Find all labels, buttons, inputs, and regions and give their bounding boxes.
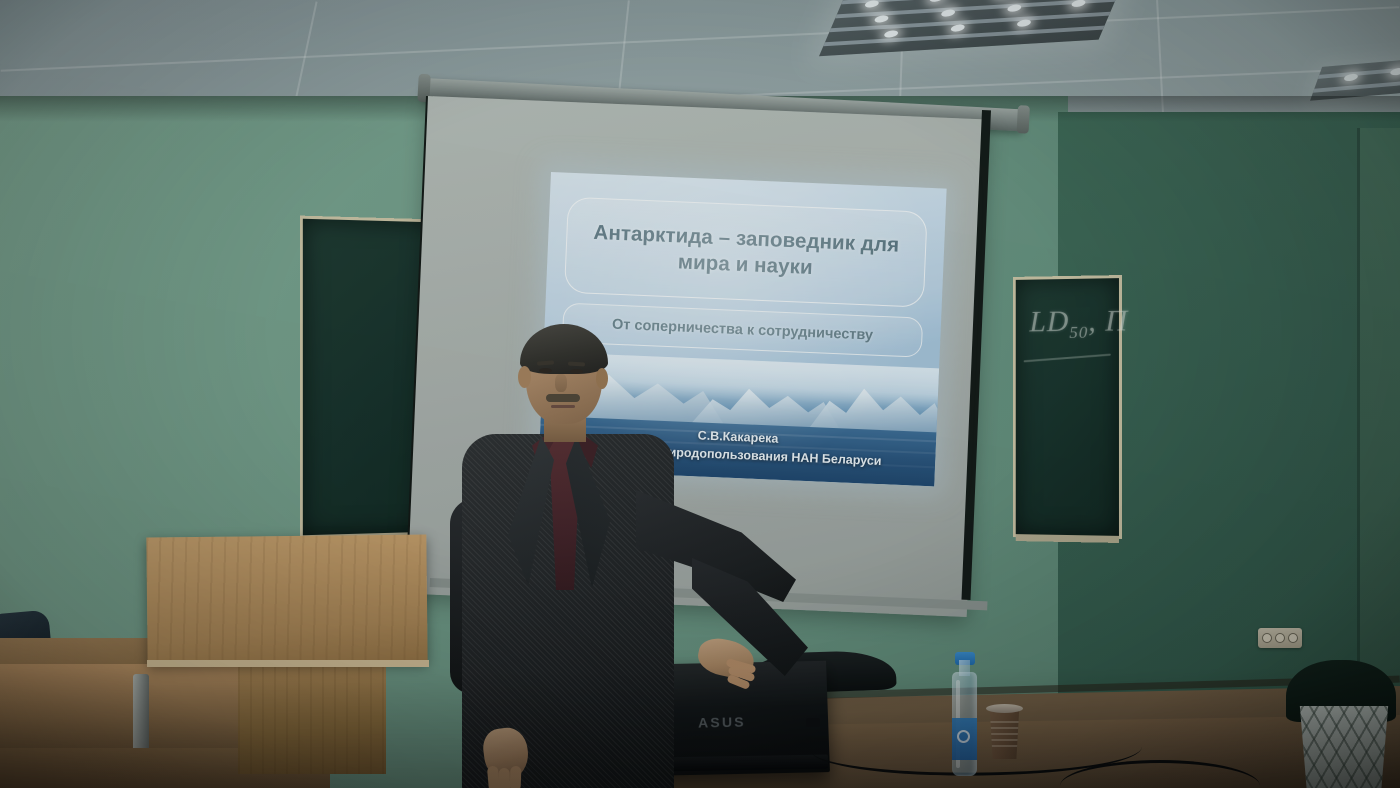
- presenter-nose: [555, 374, 567, 392]
- presenter-ear-left: [518, 366, 531, 388]
- presenter-eye-left: [539, 368, 552, 373]
- slide-title-box: Антарктида – заповедник для мира и науки: [564, 197, 928, 308]
- slide-title: Антарктида – заповедник для мира и науки: [566, 219, 926, 286]
- presenter-ear-right: [596, 368, 608, 389]
- desk-leg: [133, 674, 149, 754]
- desk-front: [0, 664, 245, 752]
- presenter-eyebrow-right: [568, 362, 585, 367]
- paper-cup: [988, 707, 1021, 759]
- trash-bin: [1296, 706, 1392, 788]
- presenter: [440, 322, 790, 788]
- paper-cup-rim: [986, 704, 1023, 713]
- water-bottle-label: [952, 718, 977, 760]
- chalk-ld-suffix: , П: [1088, 304, 1128, 338]
- chalkboard-right: LD50, П: [1013, 275, 1122, 539]
- lectern: [146, 535, 427, 666]
- chalk-ld-label: LD: [1029, 305, 1069, 338]
- lecture-hall-photo: LD50, П Антарктида – заповедник для мира…: [0, 0, 1400, 788]
- presenter-hair: [520, 324, 608, 374]
- chalk-ld-subscript: 50: [1069, 323, 1088, 342]
- power-outlet[interactable]: [1258, 628, 1302, 648]
- presenter-eye-right: [570, 369, 583, 374]
- lectern-base: [238, 662, 386, 774]
- chalkboard-writing: LD50, П: [1029, 304, 1128, 343]
- chalk-smear: [1024, 354, 1111, 363]
- lectern-lip: [147, 660, 429, 667]
- water-bottle: [952, 672, 977, 776]
- presenter-mouth: [551, 405, 575, 408]
- presenter-mustache: [546, 394, 580, 402]
